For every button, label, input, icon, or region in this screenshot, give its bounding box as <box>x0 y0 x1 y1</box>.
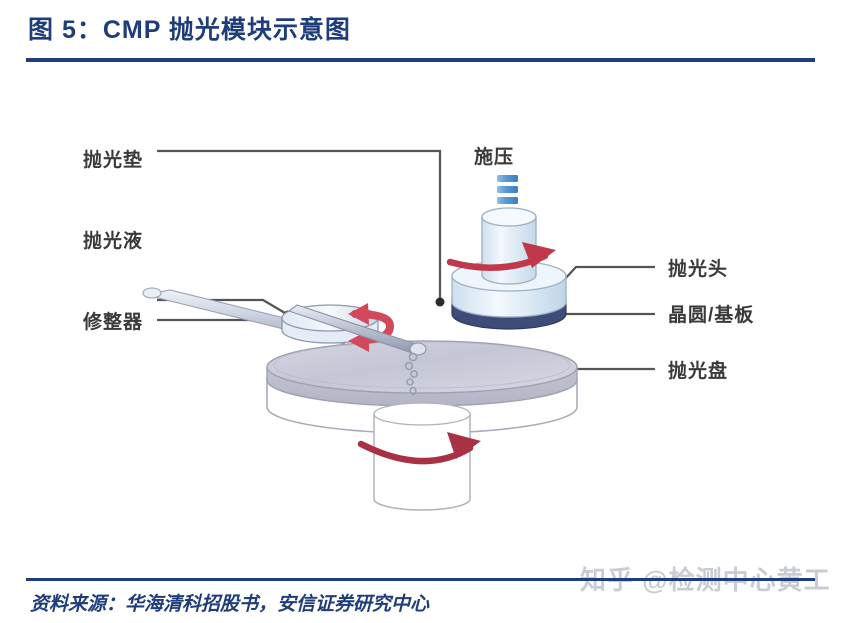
source-note: 资料来源：华海清科招股书，安信证券研究中心 <box>30 589 429 616</box>
leader-line-polishing-pad <box>157 151 445 307</box>
diagram-label-wafer-substrate: 晶圆/基板 <box>668 300 754 327</box>
diagram-label-slurry: 抛光液 <box>83 226 143 253</box>
page-title: 图 5：CMP 抛光模块示意图 <box>28 10 351 46</box>
diagram-label-apply-pressure: 施压 <box>474 142 514 169</box>
diagram-label-conditioner: 修整器 <box>83 307 143 334</box>
footer-divider <box>26 578 815 581</box>
diagram-label-polishing-head: 抛光头 <box>668 254 728 281</box>
diagram-label-platen: 抛光盘 <box>668 356 728 383</box>
diagram-label-polishing-pad: 抛光垫 <box>83 145 143 172</box>
